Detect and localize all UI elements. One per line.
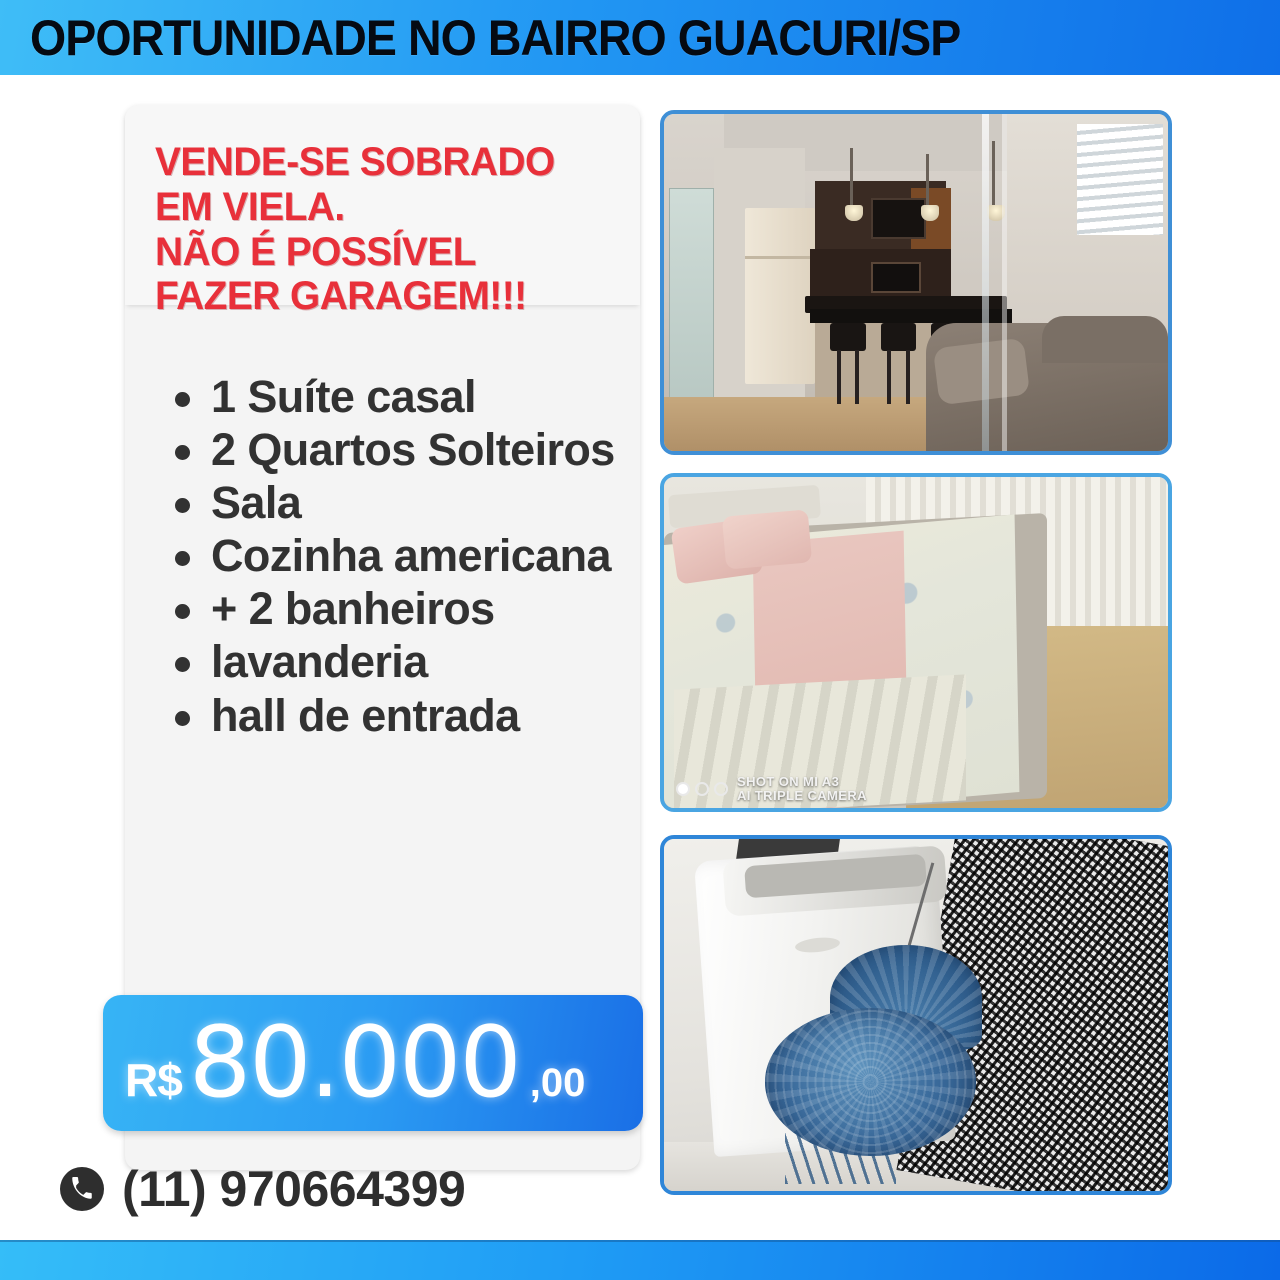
features-list: 1 Suíte casal 2 Quartos Solteiros Sala C… bbox=[165, 370, 635, 742]
window-blind bbox=[1077, 124, 1163, 235]
phone-number: (11) 970664399 bbox=[122, 1160, 465, 1218]
oven bbox=[871, 262, 921, 292]
watermark-text: SHOT ON MI A3 AI TRIPLE CAMERA bbox=[737, 775, 867, 804]
price-cents: ,00 bbox=[530, 1061, 586, 1106]
price-amount: 80.000 bbox=[189, 1006, 520, 1120]
pillow bbox=[722, 510, 812, 570]
top-banner: OPORTUNIDADE NO BAIRRO GUACURI/SP bbox=[0, 0, 1280, 75]
list-item: lavanderia bbox=[165, 635, 635, 688]
microwave bbox=[871, 198, 926, 238]
list-item: Cozinha americana bbox=[165, 529, 635, 582]
kitchen-living-scene bbox=[664, 114, 1168, 451]
headline-line-1: VENDE-SE SOBRADO bbox=[155, 140, 611, 185]
glass-door bbox=[669, 188, 714, 404]
laundry-scene bbox=[664, 839, 1168, 1191]
watermark-line-2: AI TRIPLE CAMERA bbox=[737, 788, 867, 803]
laundry-photo bbox=[660, 835, 1172, 1195]
list-item: + 2 banheiros bbox=[165, 582, 635, 635]
bedroom-photo: SHOT ON MI A3 AI TRIPLE CAMERA bbox=[660, 473, 1172, 812]
bedroom-scene bbox=[664, 477, 1168, 808]
contact-row[interactable]: (11) 970664399 bbox=[60, 1160, 465, 1218]
headline-line-2: EM VIELA. bbox=[155, 185, 611, 230]
content-stage: VENDE-SE SOBRADO EM VIELA. NÃO É POSSÍVE… bbox=[0, 75, 1280, 1240]
camera-lens-icon bbox=[676, 782, 728, 796]
phone-icon bbox=[60, 1167, 104, 1211]
bottom-banner bbox=[0, 1240, 1280, 1280]
price-banner: R$ 80.000 ,00 bbox=[103, 995, 643, 1131]
price-value: R$ 80.000 ,00 bbox=[125, 1006, 585, 1120]
headline-text: VENDE-SE SOBRADO EM VIELA. NÃO É POSSÍVE… bbox=[155, 140, 611, 319]
page-title: OPORTUNIDADE NO BAIRRO GUACURI/SP bbox=[30, 9, 960, 67]
list-item: 1 Suíte casal bbox=[165, 370, 635, 423]
kitchen-living-photo bbox=[660, 110, 1172, 455]
headline-line-4: FAZER GARAGEM!!! bbox=[155, 274, 611, 319]
headline-line-3: NÃO É POSSÍVEL bbox=[155, 230, 611, 275]
list-item: 2 Quartos Solteiros bbox=[165, 423, 635, 476]
list-item: hall de entrada bbox=[165, 689, 635, 742]
currency-symbol: R$ bbox=[125, 1053, 182, 1107]
camera-watermark: SHOT ON MI A3 AI TRIPLE CAMERA bbox=[676, 775, 867, 804]
watermark-line-1: SHOT ON MI A3 bbox=[737, 774, 839, 789]
list-item: Sala bbox=[165, 476, 635, 529]
